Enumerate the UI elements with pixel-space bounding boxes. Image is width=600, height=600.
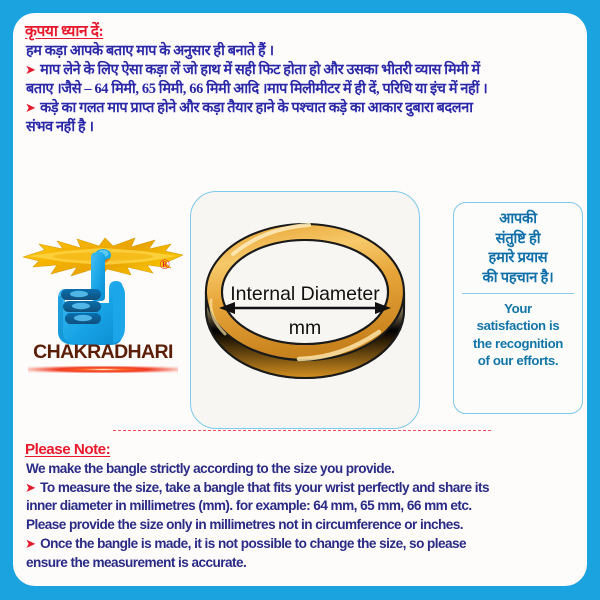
hindi-notice-heading: कृपया ध्यान दें: <box>25 22 581 41</box>
hindi-notice-line: हम कड़ा आपके बताए माप के अनुसार ही बनाते… <box>25 42 581 61</box>
logo-swoosh-decoration <box>28 366 178 373</box>
mm-unit-label: mm <box>289 317 322 339</box>
english-line-text: We make the bangle strictly according to… <box>26 461 394 476</box>
english-notice-line: Please provide the size only in millimet… <box>25 516 583 535</box>
satisfaction-english-line: Your <box>458 300 578 317</box>
hindi-notice-line: ➤ माप लेने के लिए ऐसा कड़ा लें जो हाथ मे… <box>25 61 581 80</box>
satisfaction-hindi-line: आपकी <box>458 210 578 230</box>
internal-diameter-label: Internal Diameter <box>230 283 380 305</box>
poster-root: कृपया ध्यान दें: हम कड़ा आपके बताए माप क… <box>0 0 600 600</box>
english-notice-block: Please Note: We make the bangle strictly… <box>25 440 583 573</box>
arrow-bullet-icon: ➤ <box>25 63 37 78</box>
english-line-text: Once the bangle is made, it is not possi… <box>37 536 466 551</box>
satisfaction-hindi-line: की पहचान है। <box>458 269 578 289</box>
bangle-diagram: Internal Diameter mm <box>191 192 419 428</box>
section-divider-dashed <box>113 430 491 431</box>
hindi-line-text: कड़े का गलत माप प्राप्त होने और कड़ा तैय… <box>37 100 473 116</box>
satisfaction-hindi-line: हमारे प्रयास <box>458 249 578 269</box>
logo-artwork: ® <box>19 205 187 345</box>
english-line-text: ensure the measurement is accurate. <box>26 555 246 570</box>
panel-divider <box>462 293 574 294</box>
english-notice-line: inner diameter in millimetres (mm). for … <box>25 497 583 516</box>
hand-with-chakra-icon <box>19 205 187 345</box>
bangle-diagram-card: Internal Diameter mm <box>190 191 420 429</box>
hindi-notice-block: कृपया ध्यान दें: हम कड़ा आपके बताए माप क… <box>25 22 581 137</box>
hindi-line-text: माप लेने के लिए ऐसा कड़ा लें जो हाथ में … <box>37 62 480 78</box>
english-notice-heading: Please Note: <box>25 440 583 460</box>
arrow-bullet-icon: ➤ <box>25 101 37 116</box>
english-notice-line: ensure the measurement is accurate. <box>25 554 583 573</box>
hindi-line-text: हम कड़ा आपके बताए माप के अनुसार ही बनाते… <box>26 43 274 59</box>
english-line-text: inner diameter in millimetres (mm). for … <box>26 498 472 513</box>
satisfaction-panel: आपकी संतुष्टि ही हमारे प्रयास की पहचान ह… <box>453 202 583 414</box>
hindi-line-text: बताए ।जैसे – 64 मिमी, 65 मिमी, 66 मिमी आ… <box>26 81 487 97</box>
brand-logo: ® CHAKRADHARI <box>19 205 187 387</box>
satisfaction-english-line: the recognition <box>458 335 578 352</box>
english-notice-line: ➤ To measure the size, take a bangle tha… <box>25 479 583 498</box>
satisfaction-hindi-line: संतुष्टि ही <box>458 230 578 250</box>
satisfaction-english-line: of our efforts. <box>458 352 578 369</box>
brand-wordmark: CHAKRADHARI <box>19 341 187 364</box>
hindi-notice-line: संभव नहीं है । <box>25 118 581 137</box>
arrow-bullet-icon: ➤ <box>25 481 37 496</box>
registered-trademark-icon: ® <box>159 259 170 273</box>
arrow-bullet-icon: ➤ <box>25 537 37 552</box>
english-notice-line: ➤ Once the bangle is made, it is not pos… <box>25 535 583 554</box>
english-notice-line: We make the bangle strictly according to… <box>25 460 583 479</box>
english-line-text: Please provide the size only in millimet… <box>26 517 463 532</box>
satisfaction-english-line: satisfaction is <box>458 317 578 334</box>
hindi-notice-line: बताए ।जैसे – 64 मिमी, 65 मिमी, 66 मिमी आ… <box>25 80 581 99</box>
white-card: कृपया ध्यान दें: हम कड़ा आपके बताए माप क… <box>13 13 587 586</box>
hindi-line-text: संभव नहीं है । <box>26 119 94 135</box>
english-line-text: To measure the size, take a bangle that … <box>37 480 489 495</box>
hindi-notice-line: ➤ कड़े का गलत माप प्राप्त होने और कड़ा त… <box>25 99 581 118</box>
